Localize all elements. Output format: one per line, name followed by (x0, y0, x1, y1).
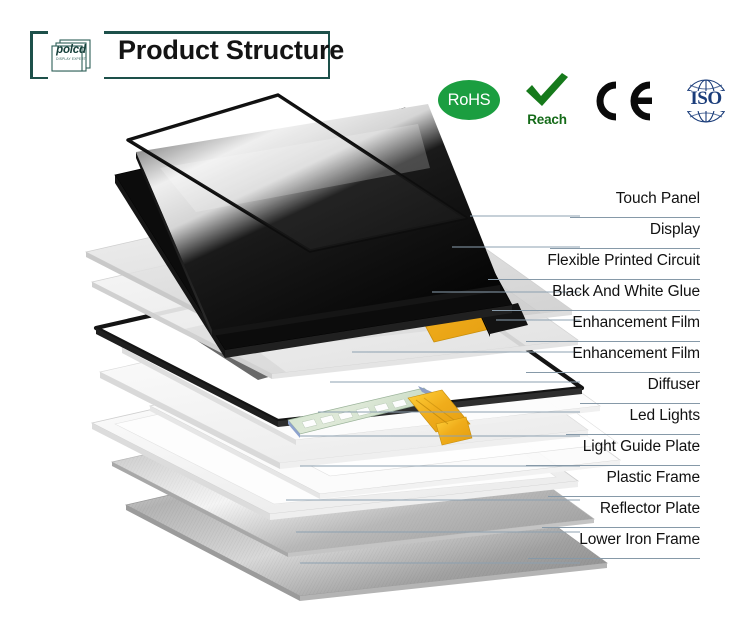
label-light-guide-plate: Light Guide Plate (583, 438, 700, 456)
label-reflector-plate: Reflector Plate (600, 500, 700, 518)
label-lower-iron-frame: Lower Iron Frame (579, 531, 700, 549)
label-display: Display (650, 221, 700, 239)
page-title: Product Structure (118, 35, 344, 66)
ce-mark-icon (586, 80, 658, 122)
brand-logo: polcd DISPLAY EXPERT (44, 38, 106, 73)
label-black-and-white-glue: Black And White Glue (552, 283, 700, 301)
label-led-lights: Led Lights (629, 407, 700, 425)
badge-iso: ISO (676, 75, 736, 127)
layer-label-list: Touch Panel Display Flexible Printed Cir… (430, 190, 750, 580)
badge-reach: Reach (516, 72, 578, 128)
badge-rohs-label: RoHS (448, 91, 491, 110)
page-title-block: polcd DISPLAY EXPERT Product Structure (30, 31, 330, 79)
brand-logo-text: polcd (48, 45, 94, 56)
label-enhancement-film-1: Enhancement Film (572, 314, 700, 332)
certification-badges: RoHS Reach (438, 72, 738, 134)
badge-reach-label: Reach (516, 112, 578, 127)
badge-ce (586, 80, 658, 124)
label-flexible-printed-circuit: Flexible Printed Circuit (547, 252, 700, 270)
label-plastic-frame: Plastic Frame (607, 469, 700, 487)
badge-iso-label: ISO (676, 88, 736, 110)
label-touch-panel: Touch Panel (616, 190, 700, 208)
label-diffuser: Diffuser (648, 376, 700, 394)
badge-rohs: RoHS (438, 80, 500, 120)
green-check-icon (522, 72, 572, 110)
brand-logo-tagline: DISPLAY EXPERT (49, 57, 93, 61)
product-structure-diagram: polcd DISPLAY EXPERT Product Structure R… (0, 0, 750, 636)
rohs-oval-icon: RoHS (438, 80, 500, 120)
label-enhancement-film-2: Enhancement Film (572, 345, 700, 363)
